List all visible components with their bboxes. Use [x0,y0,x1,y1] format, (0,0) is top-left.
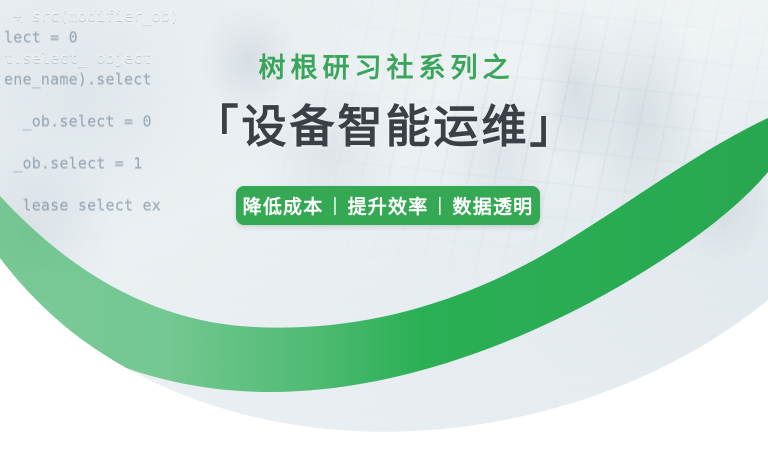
poster-canvas: + src(modifier_ob) lect = 0 t.select_ ob… [0,0,768,468]
benefit-item-2: 提升效率 [348,192,429,219]
benefits-pill: 降低成本 | 提升效率 | 数据透明 [236,186,540,225]
title-block: 树根研习社系列之 「设备智能运维」 [0,52,768,154]
poster-headline: 「设备智能运维」 [0,100,768,154]
benefit-separator-2: | [437,195,443,217]
benefit-item-1: 降低成本 [243,192,324,219]
benefit-separator-1: | [332,195,338,217]
green-wave-band [0,118,768,392]
series-kicker: 树根研习社系列之 [0,52,768,86]
benefit-item-3: 数据透明 [453,192,534,219]
benefits-pill-text: 降低成本 | 提升效率 | 数据透明 [243,192,534,219]
